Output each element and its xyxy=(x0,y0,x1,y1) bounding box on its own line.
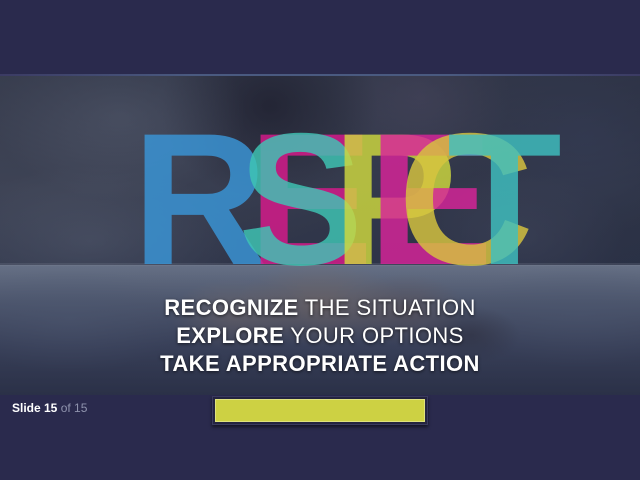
tagline-line-1: RECOGNIZE THE SITUATION xyxy=(0,294,640,322)
slide-viewer: R E S P E C T RECOGNIZE THE SITUATION EX… xyxy=(0,0,640,480)
tagline-3-lead: TAKE APPROPRIATE ACTION xyxy=(160,351,480,376)
header-underline xyxy=(0,74,640,76)
slide-counter-total: of 15 xyxy=(57,401,87,415)
tagline-1-lead: RECOGNIZE xyxy=(164,295,298,320)
header-bar xyxy=(0,0,640,76)
tagline-2-lead: EXPLORE xyxy=(176,323,284,348)
tagline-2-rest: YOUR OPTIONS xyxy=(284,323,464,348)
slide-progress-bar[interactable] xyxy=(212,396,428,425)
tagline-line-2: EXPLORE YOUR OPTIONS xyxy=(0,322,640,350)
respect-wordmark: R E S P E C T xyxy=(0,76,640,268)
wordmark-letter-t: T xyxy=(447,94,562,268)
tagline-1-rest: THE SITUATION xyxy=(299,295,476,320)
slide-taglines: RECOGNIZE THE SITUATION EXPLORE YOUR OPT… xyxy=(0,294,640,378)
tagline-line-3: TAKE APPROPRIATE ACTION xyxy=(0,350,640,378)
slide-counter: Slide 15 of 15 xyxy=(12,401,87,415)
slide-progress-fill xyxy=(215,399,425,422)
slide-counter-current: Slide 15 xyxy=(12,401,57,415)
